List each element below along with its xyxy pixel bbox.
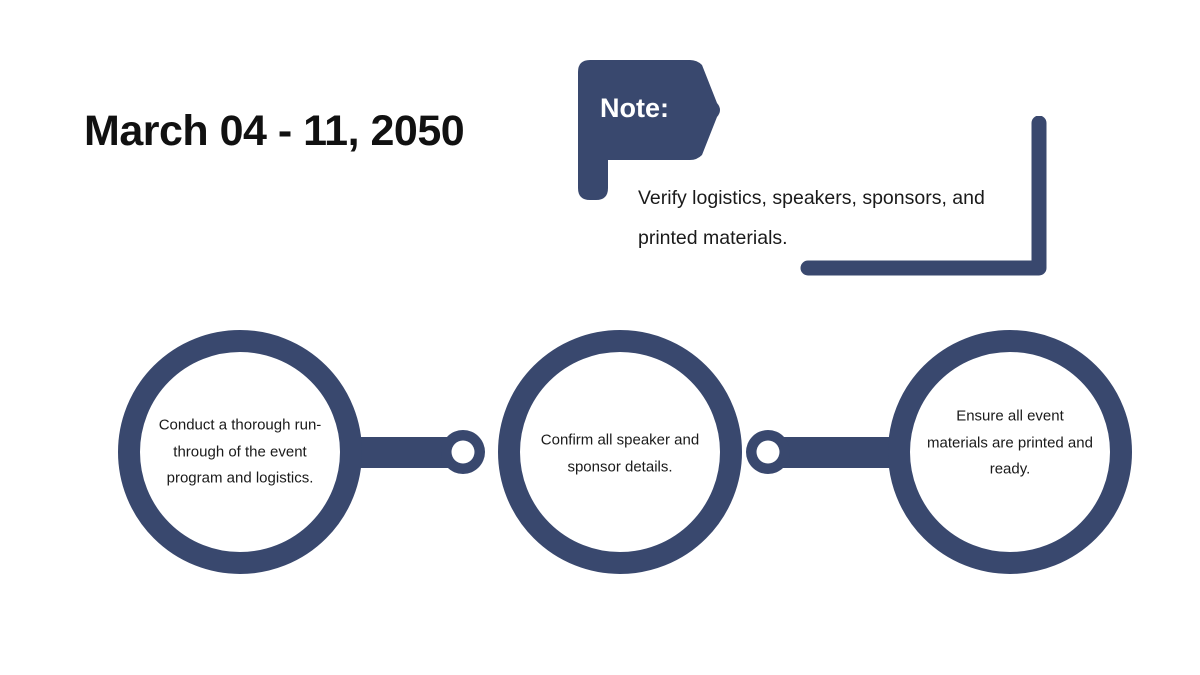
flow-node-label-2: Confirm all speaker and sponsor details. [536, 428, 704, 481]
flow-node-label-1: Conduct a thorough run-through of the ev… [156, 412, 324, 492]
flow-node-label-3: Ensure all event materials are printed a… [926, 403, 1094, 483]
connector-ring-inner-2 [757, 441, 780, 464]
connector-ring-inner-1 [452, 441, 475, 464]
process-flow-diagram [0, 0, 1200, 675]
slide-canvas: March 04 - 11, 2050 Note: Verify logisti… [0, 0, 1200, 675]
